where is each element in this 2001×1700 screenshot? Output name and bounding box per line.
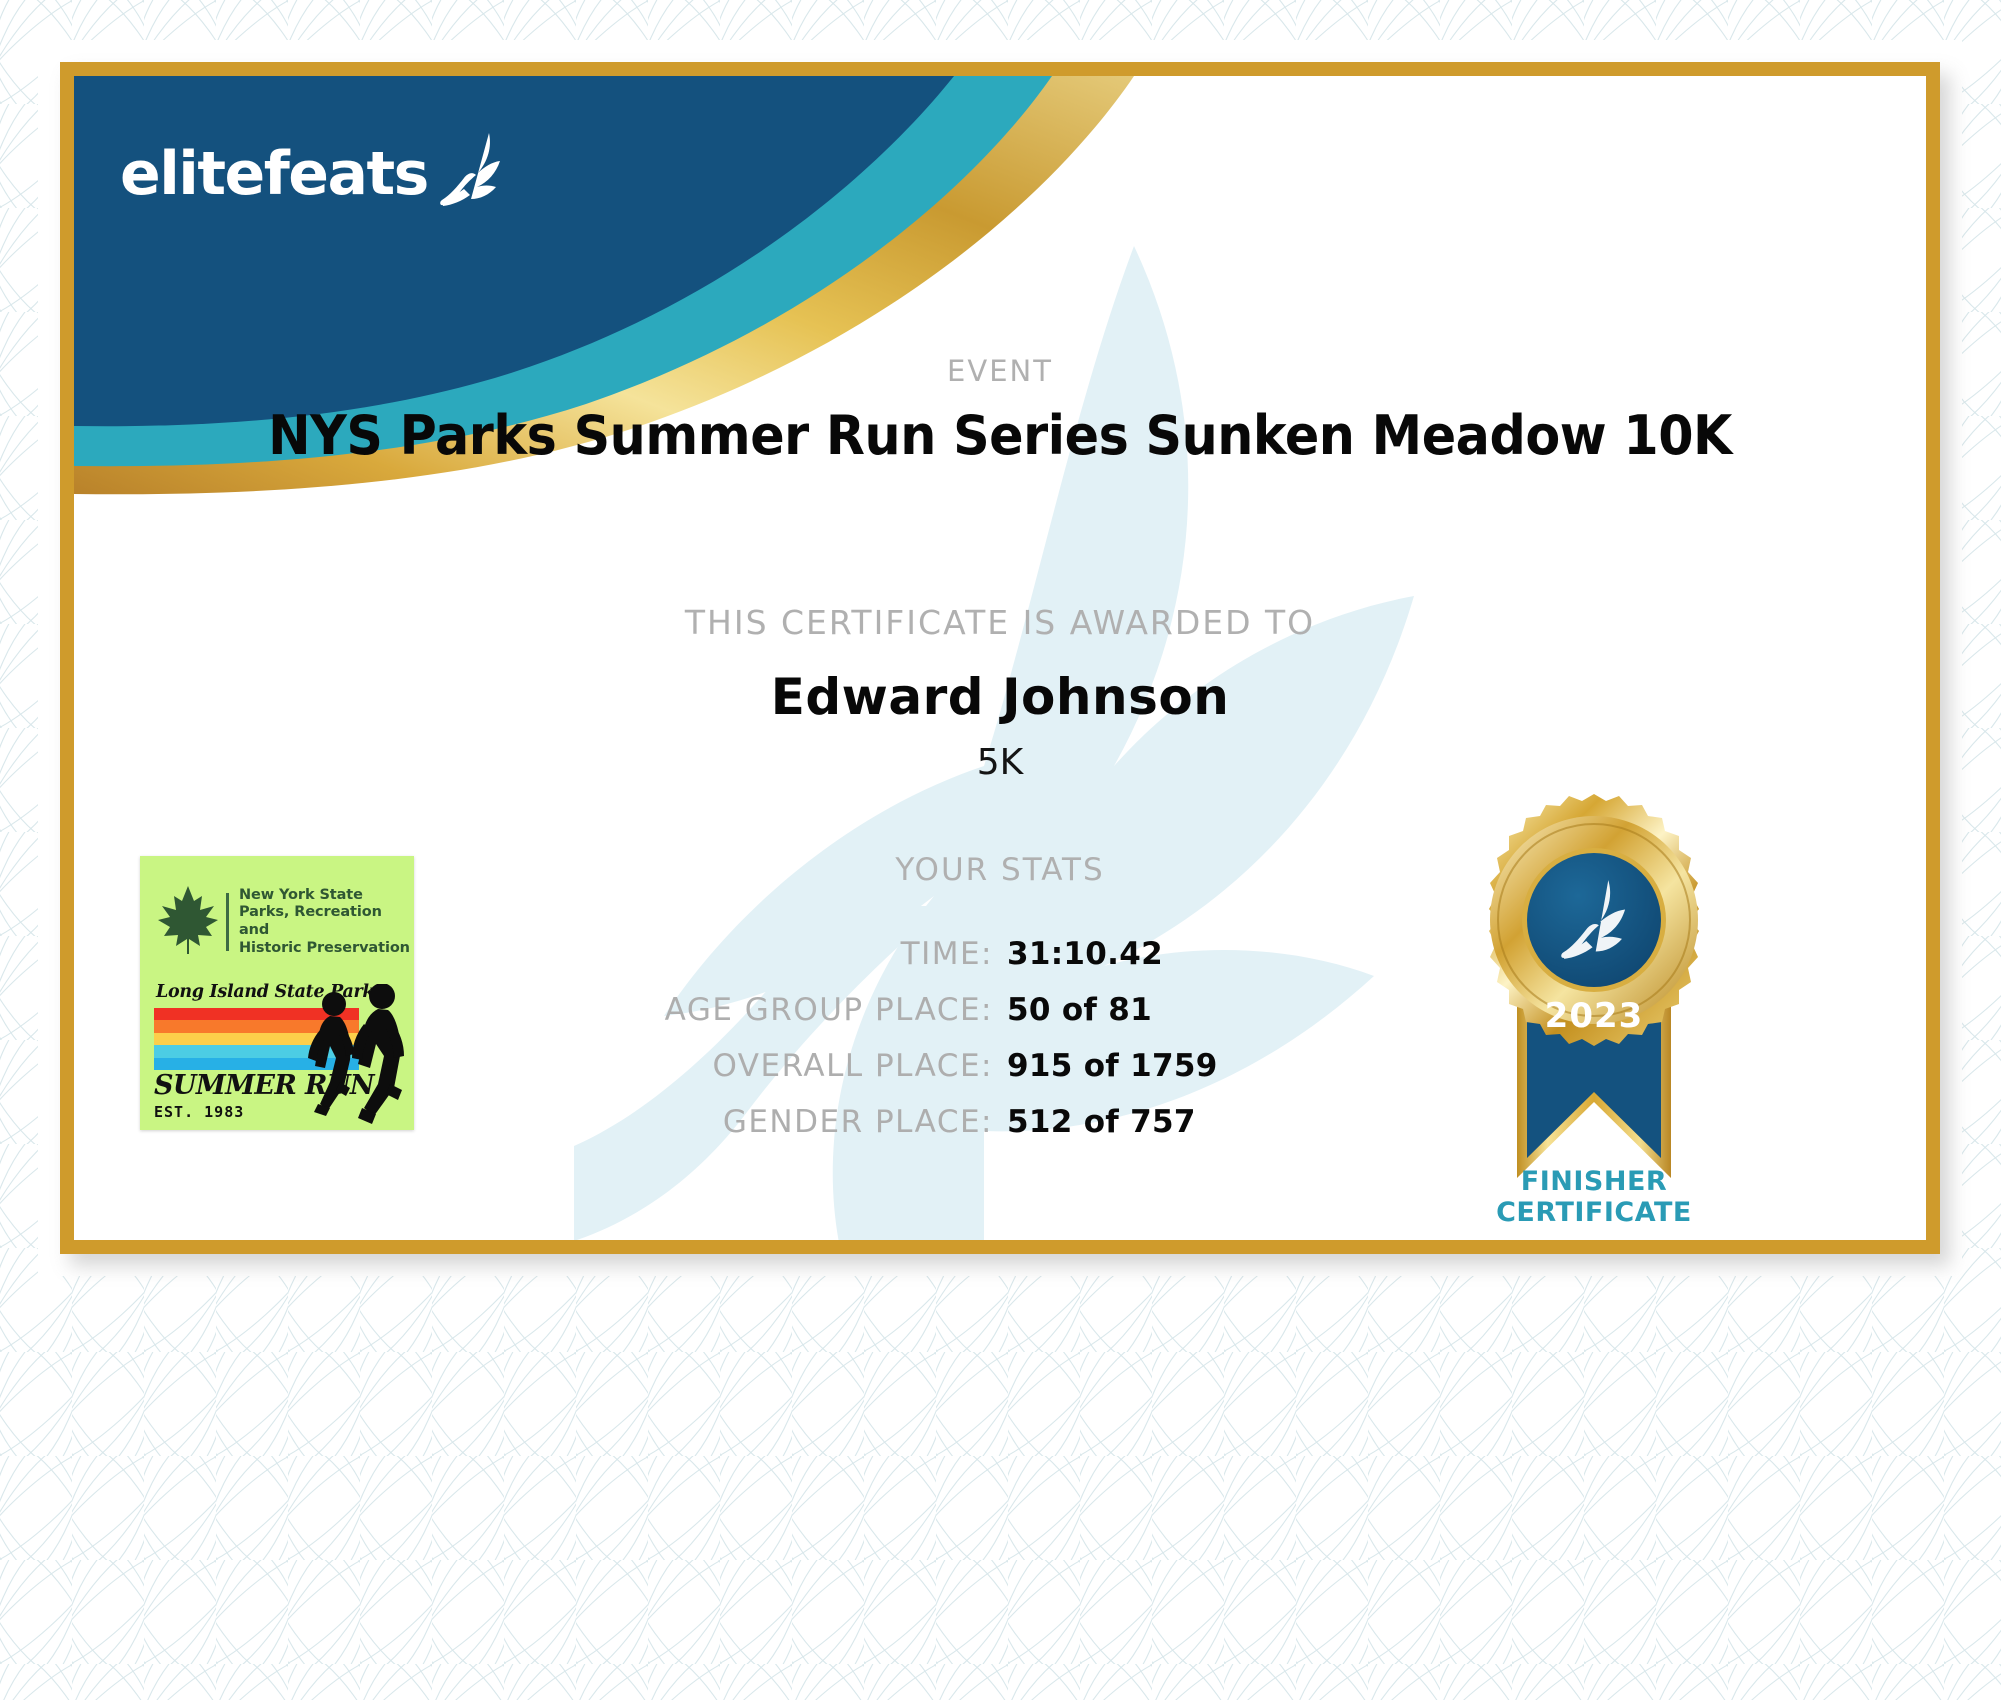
runners-silhouette-icon	[300, 984, 414, 1130]
awarded-to-label: THIS CERTIFICATE IS AWARDED TO	[74, 603, 1926, 642]
recipient-name: Edward Johnson	[74, 668, 1926, 726]
agency-line-1: New York State	[239, 887, 414, 905]
agency-line-3: Historic Preservation	[239, 940, 414, 958]
finisher-line-1: FINISHER	[1424, 1166, 1764, 1197]
stat-key-time: TIME:	[523, 936, 993, 972]
stat-key-overall-place: OVERALL PLACE:	[523, 1048, 993, 1084]
stat-key-gender-place: GENDER PLACE:	[523, 1104, 993, 1140]
finisher-medal-badge: 2023	[1459, 792, 1729, 1222]
brand-logo: elitefeats	[120, 131, 510, 216]
winged-foot-icon	[434, 131, 510, 216]
svg-text:2023: 2023	[1545, 996, 1644, 1036]
finisher-line-2: CERTIFICATE	[1424, 1197, 1764, 1228]
brand-wordmark: elitefeats	[120, 144, 428, 204]
logo-divider	[226, 893, 229, 951]
event-label: EVENT	[74, 354, 1926, 388]
stat-value-age-group-place: 50 of 81	[993, 992, 1477, 1028]
summer-run-badge: Long Island State Parks SUMMER RUN EST. …	[140, 978, 414, 1128]
nys-parks-agency-text: New York State Parks, Recreation and His…	[239, 887, 414, 958]
maple-leaf-icon	[156, 884, 220, 961]
recipient-distance: 5K	[74, 742, 1926, 783]
event-title: NYS Parks Summer Run Series Sunken Meado…	[130, 404, 1871, 467]
certificate-card: elitefeats EVENT N	[60, 62, 1940, 1254]
stat-value-gender-place: 512 of 757	[993, 1104, 1477, 1140]
nys-parks-summer-run-logo: New York State Parks, Recreation and His…	[140, 856, 414, 1130]
agency-line-2: Parks, Recreation and	[239, 904, 414, 939]
finisher-certificate-caption: FINISHER CERTIFICATE	[1424, 1166, 1764, 1229]
certificate-inner: elitefeats EVENT N	[74, 76, 1926, 1240]
stat-value-overall-place: 915 of 1759	[993, 1048, 1477, 1084]
stat-value-time: 31:10.42	[993, 936, 1477, 972]
nys-parks-agency-logo: New York State Parks, Recreation and His…	[140, 868, 414, 976]
stat-key-age-group-place: AGE GROUP PLACE:	[523, 992, 993, 1028]
